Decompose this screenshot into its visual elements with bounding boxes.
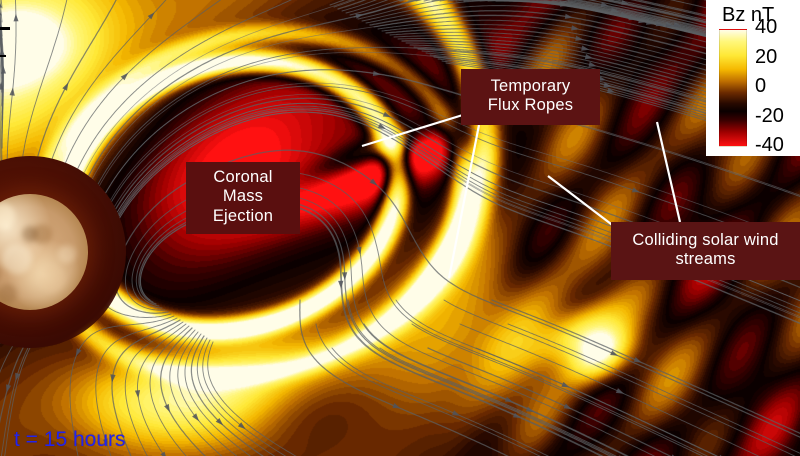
colorbar-tick-20: 20 (755, 46, 777, 69)
axis-tick-mark (0, 27, 10, 30)
colorbar-tick-neg40: -40 (755, 134, 784, 157)
colorbar-tick-neg20: -20 (755, 105, 784, 128)
colorbar-legend-panel: Bz nT 40200-20-40 (706, 0, 800, 156)
sun-granule (58, 245, 76, 263)
sun-granule (22, 226, 38, 242)
sun-granule (0, 284, 17, 304)
sun-granule (0, 263, 1, 285)
callout-colliding-solar-wind-streams: Colliding solar wind streams (611, 222, 800, 280)
sun-granule (2, 244, 32, 274)
colorbar-gradient (719, 29, 747, 147)
visualization-canvas: Coronal Mass Ejection Temporary Flux Rop… (0, 0, 800, 456)
sun-granule (0, 203, 15, 229)
sun-granule (39, 266, 65, 292)
simulation-time-label: t = 15 hours (14, 428, 126, 452)
axis-tick-mark (0, 55, 6, 57)
callout-temporary-flux-ropes: Temporary Flux Ropes (461, 69, 600, 125)
colorbar-tick-0: 0 (755, 75, 766, 98)
callout-coronal-mass-ejection: Coronal Mass Ejection (186, 162, 300, 234)
colorbar-tick-40: 40 (755, 16, 777, 39)
